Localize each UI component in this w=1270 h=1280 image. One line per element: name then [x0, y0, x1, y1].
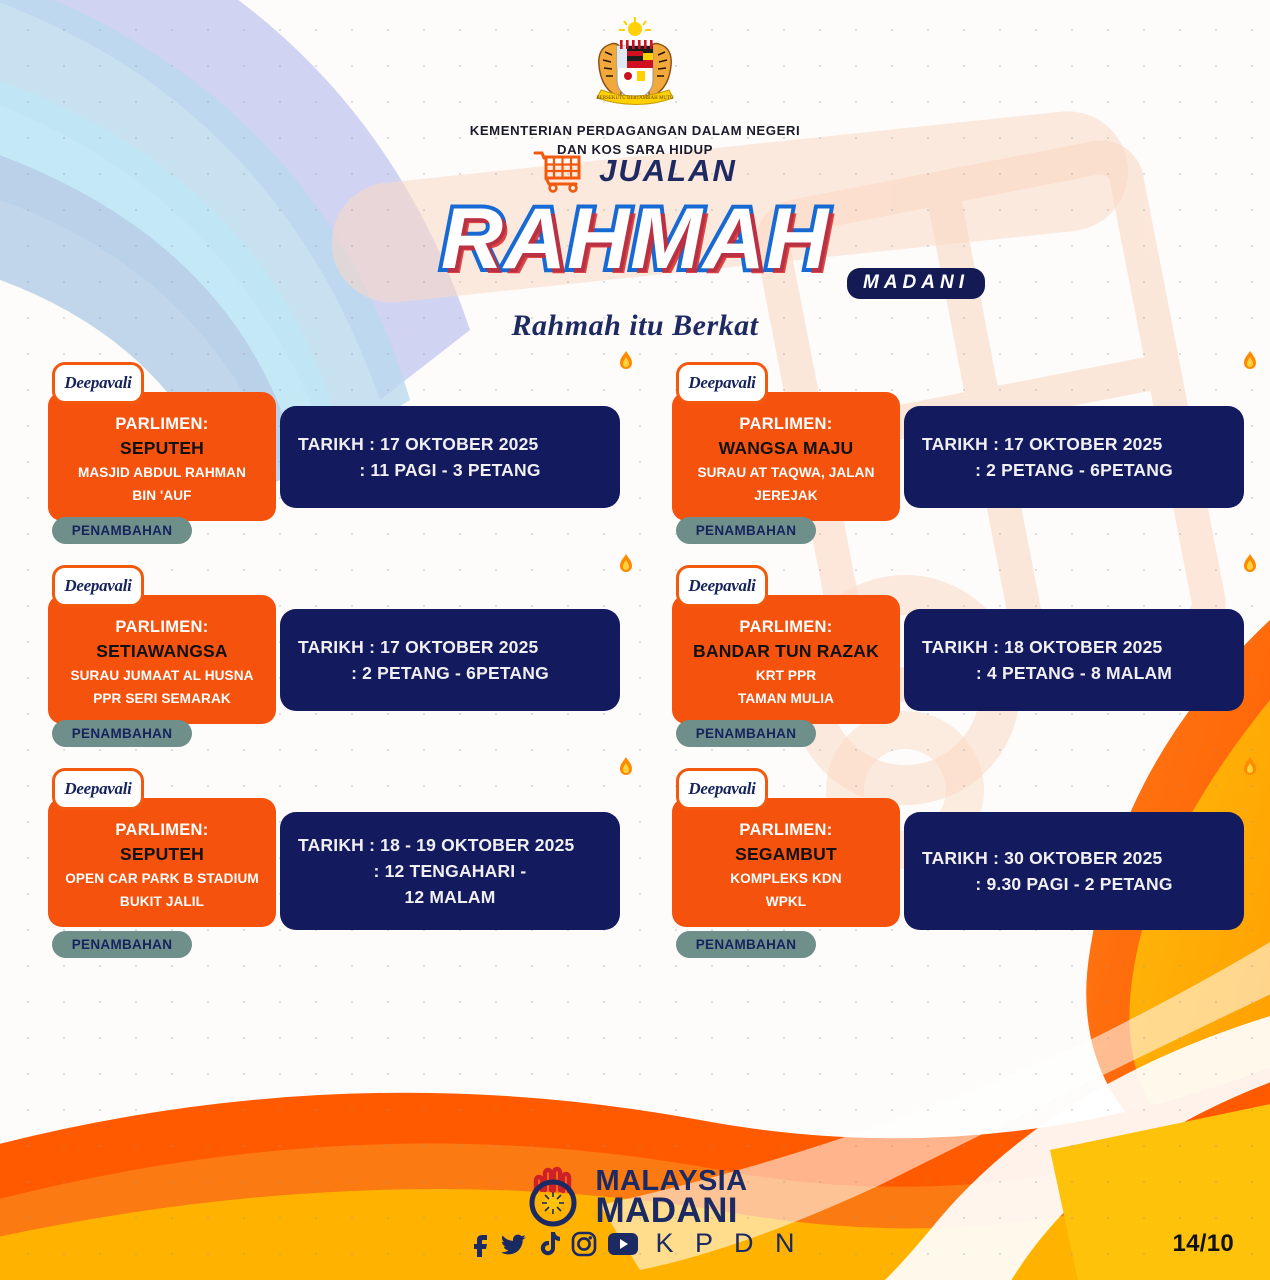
- parlimen-label: PARLIMEN:: [56, 820, 268, 842]
- venue-panel: PARLIMEN: SEPUTEH MASJID ABDUL RAHMAN BI…: [48, 392, 276, 521]
- parlimen-label: PARLIMEN:: [56, 414, 268, 436]
- event-card-grid: PARLIMEN: SEPUTEH MASJID ABDUL RAHMAN BI…: [0, 362, 1270, 971]
- deepavali-badge-label: Deepavali: [64, 373, 131, 393]
- date-line-2: : 12 TENGAHARI -: [298, 858, 602, 884]
- date-line-1: TARIKH : 18 - 19 OKTOBER 2025: [298, 832, 602, 858]
- tagline: Rahmah itu Berkat: [0, 309, 1270, 343]
- status-badge: PENAMBAHAN: [676, 517, 816, 544]
- malaysia-coat-of-arms: BERSEKUTU BERTAMBAH MUTU: [571, 16, 699, 116]
- flame-icon: [618, 757, 634, 777]
- flame-icon: [1242, 757, 1258, 777]
- youtube-icon[interactable]: [608, 1232, 638, 1256]
- card-row: PARLIMEN: SEPUTEH OPEN CAR PARK B STADIU…: [0, 768, 1270, 971]
- date-line-1: TARIKH : 17 OKTOBER 2025: [922, 431, 1226, 457]
- venue-line-1: OPEN CAR PARK B STADIUM: [56, 870, 268, 888]
- parlimen-label: PARLIMEN:: [680, 617, 892, 639]
- status-badge: PENAMBAHAN: [676, 931, 816, 958]
- venue-line-2: BIN 'AUF: [56, 487, 268, 505]
- rahmah-logo-block: JUALAN RAHMAH MADANI Rahmah itu Berkat: [0, 148, 1270, 343]
- status-badge: PENAMBAHAN: [52, 517, 192, 544]
- date-panel: TARIKH : 18 OKTOBER 2025 : 4 PETANG - 8 …: [904, 609, 1244, 711]
- venue-line-1: SURAU AT TAQWA, JALAN: [680, 464, 892, 482]
- status-badge-label: PENAMBAHAN: [72, 937, 173, 952]
- date-line-1: TARIKH : 30 OKTOBER 2025: [922, 845, 1226, 871]
- date-panel: TARIKH : 17 OKTOBER 2025 : 11 PAGI - 3 P…: [280, 406, 620, 508]
- rahmah-wordmark: RAHMAH: [441, 191, 829, 287]
- svg-text:BERSEKUTU BERTAMBAH MUTU: BERSEKUTU BERTAMBAH MUTU: [596, 96, 674, 101]
- madani-badge: MADANI: [847, 268, 985, 299]
- date-line-2: : 4 PETANG - 8 MALAM: [922, 660, 1226, 686]
- parlimen-label: PARLIMEN:: [680, 414, 892, 436]
- parlimen-name: SETIAWANGSA: [56, 640, 268, 664]
- parlimen-label: PARLIMEN:: [680, 820, 892, 842]
- venue-line-1: SURAU JUMAAT AL HUSNA: [56, 667, 268, 685]
- parlimen-name: WANGSA MAJU: [680, 437, 892, 461]
- deepavali-badge: Deepavali: [52, 362, 144, 404]
- status-badge-label: PENAMBAHAN: [72, 523, 173, 538]
- madani-hand-icon: [523, 1166, 585, 1228]
- shopping-cart-icon: [533, 149, 585, 193]
- deepavali-badge-label: Deepavali: [688, 373, 755, 393]
- card-row: PARLIMEN: SEPUTEH MASJID ABDUL RAHMAN BI…: [0, 362, 1270, 565]
- deepavali-badge: Deepavali: [52, 565, 144, 607]
- venue-panel: PARLIMEN: SEGAMBUT KOMPLEKS KDN WPKL: [672, 798, 900, 927]
- status-badge-label: PENAMBAHAN: [696, 523, 797, 538]
- deepavali-badge: Deepavali: [52, 768, 144, 810]
- venue-panel: PARLIMEN: SETIAWANGSA SURAU JUMAAT AL HU…: [48, 595, 276, 724]
- status-badge: PENAMBAHAN: [676, 720, 816, 747]
- status-badge-label: PENAMBAHAN: [696, 937, 797, 952]
- date-line-3: 12 MALAM: [298, 884, 602, 910]
- deepavali-badge-label: Deepavali: [688, 779, 755, 799]
- instagram-icon[interactable]: [571, 1231, 597, 1257]
- facebook-icon[interactable]: [468, 1231, 490, 1257]
- venue-line-1: KRT PPR: [680, 667, 892, 685]
- status-badge: PENAMBAHAN: [52, 720, 192, 747]
- brand-line-2: MADANI: [596, 1193, 748, 1228]
- card-row: PARLIMEN: SETIAWANGSA SURAU JUMAAT AL HU…: [0, 565, 1270, 768]
- page-footer: MALAYSIA MADANI K P D N: [0, 1150, 1270, 1280]
- deepavali-badge-label: Deepavali: [688, 576, 755, 596]
- venue-line-2: WPKL: [680, 893, 892, 911]
- deepavali-badge: Deepavali: [676, 768, 768, 810]
- date-line-1: TARIKH : 18 OKTOBER 2025: [922, 634, 1226, 660]
- venue-line-1: KOMPLEKS KDN: [680, 870, 892, 888]
- venue-panel: PARLIMEN: SEPUTEH OPEN CAR PARK B STADIU…: [48, 798, 276, 927]
- social-links: K P D N: [0, 1228, 1270, 1259]
- date-line-1: TARIKH : 17 OKTOBER 2025: [298, 431, 602, 457]
- deepavali-badge-label: Deepavali: [64, 576, 131, 596]
- date-line-2: : 2 PETANG - 6PETANG: [298, 660, 602, 686]
- status-badge-label: PENAMBAHAN: [72, 726, 173, 741]
- ministry-line-1: KEMENTERIAN PERDAGANGAN DALAM NEGERI: [0, 122, 1270, 141]
- page-number: 14/10: [1172, 1230, 1234, 1258]
- venue-line-1: MASJID ABDUL RAHMAN: [56, 464, 268, 482]
- status-badge-label: PENAMBAHAN: [696, 726, 797, 741]
- date-line-2: : 9.30 PAGI - 2 PETANG: [922, 871, 1226, 897]
- tiktok-icon[interactable]: [538, 1231, 560, 1257]
- flame-icon: [618, 351, 634, 371]
- jualan-label: JUALAN: [599, 153, 737, 189]
- venue-line-2: TAMAN MULIA: [680, 690, 892, 708]
- parlimen-name: SEPUTEH: [56, 843, 268, 867]
- malaysia-madani-logo: MALAYSIA MADANI: [0, 1166, 1270, 1228]
- venue-line-2: BUKIT JALIL: [56, 893, 268, 911]
- status-badge: PENAMBAHAN: [52, 931, 192, 958]
- parlimen-name: SEGAMBUT: [680, 843, 892, 867]
- venue-line-2: PPR SERI SEMARAK: [56, 690, 268, 708]
- deepavali-badge-label: Deepavali: [64, 779, 131, 799]
- parlimen-label: PARLIMEN:: [56, 617, 268, 639]
- twitter-icon[interactable]: [501, 1231, 527, 1257]
- venue-panel: PARLIMEN: BANDAR TUN RAZAK KRT PPR TAMAN…: [672, 595, 900, 724]
- social-handle: K P D N: [655, 1228, 801, 1259]
- date-panel: TARIKH : 17 OKTOBER 2025 : 2 PETANG - 6P…: [904, 406, 1244, 508]
- parlimen-name: BANDAR TUN RAZAK: [680, 640, 892, 664]
- venue-panel: PARLIMEN: WANGSA MAJU SURAU AT TAQWA, JA…: [672, 392, 900, 521]
- venue-line-2: JEREJAK: [680, 487, 892, 505]
- deepavali-badge: Deepavali: [676, 565, 768, 607]
- flame-icon: [618, 554, 634, 574]
- deepavali-badge: Deepavali: [676, 362, 768, 404]
- date-panel: TARIKH : 18 - 19 OKTOBER 2025 : 12 TENGA…: [280, 812, 620, 930]
- flame-icon: [1242, 351, 1258, 371]
- date-line-2: : 2 PETANG - 6PETANG: [922, 457, 1226, 483]
- date-panel: TARIKH : 30 OKTOBER 2025 : 9.30 PAGI - 2…: [904, 812, 1244, 930]
- parlimen-name: SEPUTEH: [56, 437, 268, 461]
- date-panel: TARIKH : 17 OKTOBER 2025 : 2 PETANG - 6P…: [280, 609, 620, 711]
- flame-icon: [1242, 554, 1258, 574]
- date-line-1: TARIKH : 17 OKTOBER 2025: [298, 634, 602, 660]
- page-header: BERSEKUTU BERTAMBAH MUTU KEMENTERIAN PER…: [0, 0, 1270, 159]
- date-line-2: : 11 PAGI - 3 PETANG: [298, 457, 602, 483]
